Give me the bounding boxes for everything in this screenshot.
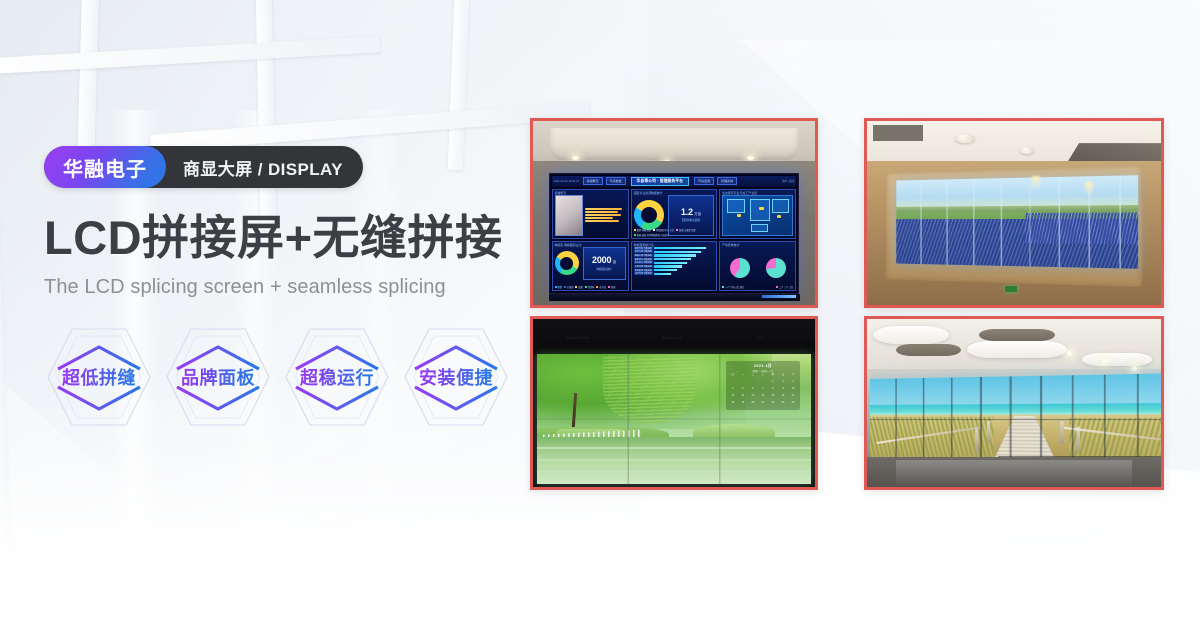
bullet-line — [585, 214, 621, 216]
card-body: 2000 亩 种植面积统计 — [555, 247, 626, 280]
legend-entry: 一产 产值 占比 统计 — [722, 285, 744, 289]
exit-sign-icon — [1005, 286, 1017, 292]
dashboard-tab[interactable]: 管理系统 — [717, 177, 737, 185]
ceiling-dome-light — [1020, 147, 1034, 154]
dashboard-card-area-share: 种植区 规模面积占比 2000 亩 种植面积统计 — [552, 241, 629, 291]
ceiling-coffer-dark — [979, 329, 1055, 341]
screen-bezel-grid — [537, 354, 811, 483]
screen-bezel-grid — [870, 374, 1164, 466]
chart-legend: 粮食 水果类 蔬菜 经济林 花卉苗 茶园 — [555, 285, 626, 289]
stat-caption: 种植面积统计 — [596, 267, 612, 271]
stat-unit: 万亩 — [694, 211, 701, 216]
dashboard-navbar: 2021-04-12 10:51:27 基础概况 环境数据 华县等公司 · 管理… — [552, 176, 797, 187]
feature-label: 品牌面板 — [181, 364, 255, 390]
legend-entry: 粮食 种植 面积 — [634, 228, 651, 232]
pie-chart — [730, 258, 750, 278]
donut-chart — [555, 251, 579, 275]
hero-copy: 华融电子 商显大屏 / DISPLAY LCD拼接屏+无缝拼接 The LCD … — [44, 146, 514, 429]
donut-chart — [634, 200, 664, 230]
legend-entry: 经济林 — [585, 285, 595, 289]
chart-legend: 一产 产值 占比 统计 二产 三产 占比 — [722, 285, 793, 289]
stat-block: 2000 亩 种植面积统计 — [583, 247, 626, 280]
pie-chart-group — [722, 248, 793, 288]
photo-dashboard-video-wall: 2021-04-12 10:51:27 基础概况 环境数据 华县等公司 · 管理… — [530, 118, 818, 308]
dashboard-title: 华县等公司 · 管理服务平台 — [631, 177, 690, 186]
bar-row: 中药材类 种植面积 — [634, 265, 715, 268]
stat-value: 1.2 — [681, 208, 693, 217]
bar-row: 蔬菜瓜果 种植面积 — [634, 254, 715, 257]
dashboard-tab[interactable]: 环境监测 — [694, 177, 714, 185]
map-marker — [777, 215, 781, 218]
frame-label: HUARONG — [567, 335, 590, 340]
photo-solar-farm-video-wall — [864, 118, 1164, 308]
ceiling-vent — [873, 125, 923, 142]
video-wall-screen — [896, 175, 1138, 269]
card-bullet-list — [585, 195, 626, 236]
feature-item-3: 超稳运行 — [282, 325, 392, 429]
screen-bezel-grid — [896, 175, 1138, 269]
legend-entry: 蔬菜 — [575, 285, 582, 289]
legend-entry: 茶园 — [608, 285, 615, 289]
brand-name: 华融电子 — [44, 146, 166, 188]
bar-row: 粮食作物 种植面积 — [634, 247, 715, 250]
feature-label: 超稳运行 — [300, 364, 374, 390]
feature-label: 超低拼缝 — [62, 364, 136, 390]
feature-item-4: 安装便捷 — [401, 325, 511, 429]
floor-reflection — [896, 460, 1131, 487]
bar-row: 花卉苗木 种植面积 — [634, 261, 715, 264]
stat-unit: 亩 — [613, 259, 616, 264]
dashboard-card-output-pies: 产值结构统计 一产 产值 占比 统计 二产 三产 占比 — [719, 241, 796, 291]
feature-list: 超低拼缝 品牌面板 超稳运行 — [44, 325, 514, 429]
feature-item-1: 超低拼缝 — [44, 325, 154, 429]
ceiling-coffer — [967, 341, 1067, 358]
dashboard-card-industry-map: 生态循环农业与加工产业链 — [719, 189, 796, 239]
wall-washer-light — [1085, 182, 1093, 196]
card-header: 产值结构统计 — [722, 243, 793, 247]
photo-willow-lake-video-wall: HUARONG DISPLAY LCD 2021 4月 星期一 — [530, 316, 818, 490]
bar-row: 果树林木 种植面积 — [634, 258, 715, 261]
bullet-line — [585, 211, 618, 213]
video-wall-screen: 2021-04-12 10:51:27 基础概况 环境数据 华县等公司 · 管理… — [549, 173, 800, 294]
pie-chart — [766, 258, 786, 278]
promo-banner: 华融电子 商显大屏 / DISPLAY LCD拼接屏+无缝拼接 The LCD … — [0, 0, 1200, 640]
bar-row: 经济作物 种植面积 — [634, 250, 715, 253]
legend-entry: 花卉苗 — [596, 285, 606, 289]
map-node-box — [751, 224, 768, 233]
map-node-box — [772, 199, 789, 212]
dashboard-card-grid: 基础概况 — [552, 189, 797, 291]
dashboard-card-area-table: 种植面积统计表 粮食作物 种植面积 经济作物 种植面积 蔬菜瓜果 种植面积 果树… — [631, 241, 718, 291]
ceiling-dome-light — [955, 134, 975, 143]
product-photo-gallery: 2021-04-12 10:51:27 基础概况 环境数据 华县等公司 · 管理… — [530, 118, 1164, 490]
page-subtitle: The LCD splicing screen + seamless splic… — [44, 276, 514, 299]
map-marker — [737, 214, 741, 217]
downlight-icon — [1132, 366, 1137, 371]
photo-beach-boardwalk-video-wall — [864, 316, 1164, 490]
bullet-line — [585, 208, 622, 210]
dashboard-timestamp: 2021-04-12 10:51:27 — [554, 180, 580, 183]
legend-entry: 果园 面积 特色种植基地 万亩统计 — [634, 233, 669, 237]
legend-entry: 智慧园区中心 示范 — [653, 228, 674, 232]
video-wall-screen — [870, 374, 1164, 466]
downlight-icon — [1067, 351, 1072, 356]
brand-badge: 华融电子 商显大屏 / DISPLAY — [44, 146, 363, 188]
map-marker — [759, 207, 764, 210]
screen-taskbar — [549, 294, 800, 301]
frame-label: DISPLAY — [663, 335, 682, 340]
card-thumbnail — [555, 195, 583, 236]
feature-label: 安装便捷 — [419, 364, 493, 390]
bullet-line — [585, 220, 619, 222]
bar-row: 其他作物 种植面积 — [634, 273, 715, 276]
chart-legend: 粮食 种植 面积 智慧园区中心 示范 蔬菜 瓜果类 面积 果园 面积 特色种植基… — [634, 228, 715, 237]
stat-value: 2000 — [592, 256, 611, 265]
process-map — [722, 195, 793, 236]
dashboard-user-menu[interactable]: 用户 | 退出 — [782, 179, 795, 183]
bullet-line — [585, 217, 614, 219]
dashboard-card-resources: 园区企业资源数据统计 1.2 万亩 园区种植总面积 — [631, 189, 718, 239]
legend-entry: 水果类 — [564, 285, 574, 289]
feature-item-2: 品牌面板 — [163, 325, 273, 429]
wall-frame-top: HUARONG DISPLAY LCD — [533, 319, 815, 354]
wall-washer-light — [1032, 176, 1040, 190]
card-body — [555, 195, 626, 236]
ceiling-coffer — [873, 326, 949, 344]
taskbar-indicator — [762, 295, 796, 298]
legend-entry: 蔬菜 瓜果类 面积 — [676, 228, 696, 232]
bar-row: 茶园基地 种植面积 — [634, 269, 715, 272]
ceiling-coffer — [1082, 353, 1153, 366]
frame-label: LCD — [756, 335, 765, 340]
ceiling-soffit — [550, 128, 798, 159]
dashboard-tab[interactable]: 环境数据 — [606, 177, 626, 185]
ceiling-coffer-dark — [896, 344, 961, 356]
brand-tagline: 商显大屏 / DISPLAY — [166, 146, 363, 188]
legend-entry: 粮食 — [555, 285, 562, 289]
dashboard-card-overview: 基础概况 — [552, 189, 629, 239]
page-title: LCD拼接屏+无缝拼接 — [44, 213, 514, 263]
legend-entry: 二产 三产 占比 — [776, 285, 793, 289]
bar-chart: 粮食作物 种植面积 经济作物 种植面积 蔬菜瓜果 种植面积 果树林木 种植面积 … — [634, 247, 715, 288]
dashboard-tab[interactable]: 基础概况 — [583, 177, 603, 185]
video-wall-screen: 2021 4月 星期一 辛丑年 三月 日 一 二 三 四 五 六 — [537, 354, 811, 483]
map-node-box — [727, 199, 745, 212]
stat-caption: 园区种植总面积 — [682, 218, 700, 222]
